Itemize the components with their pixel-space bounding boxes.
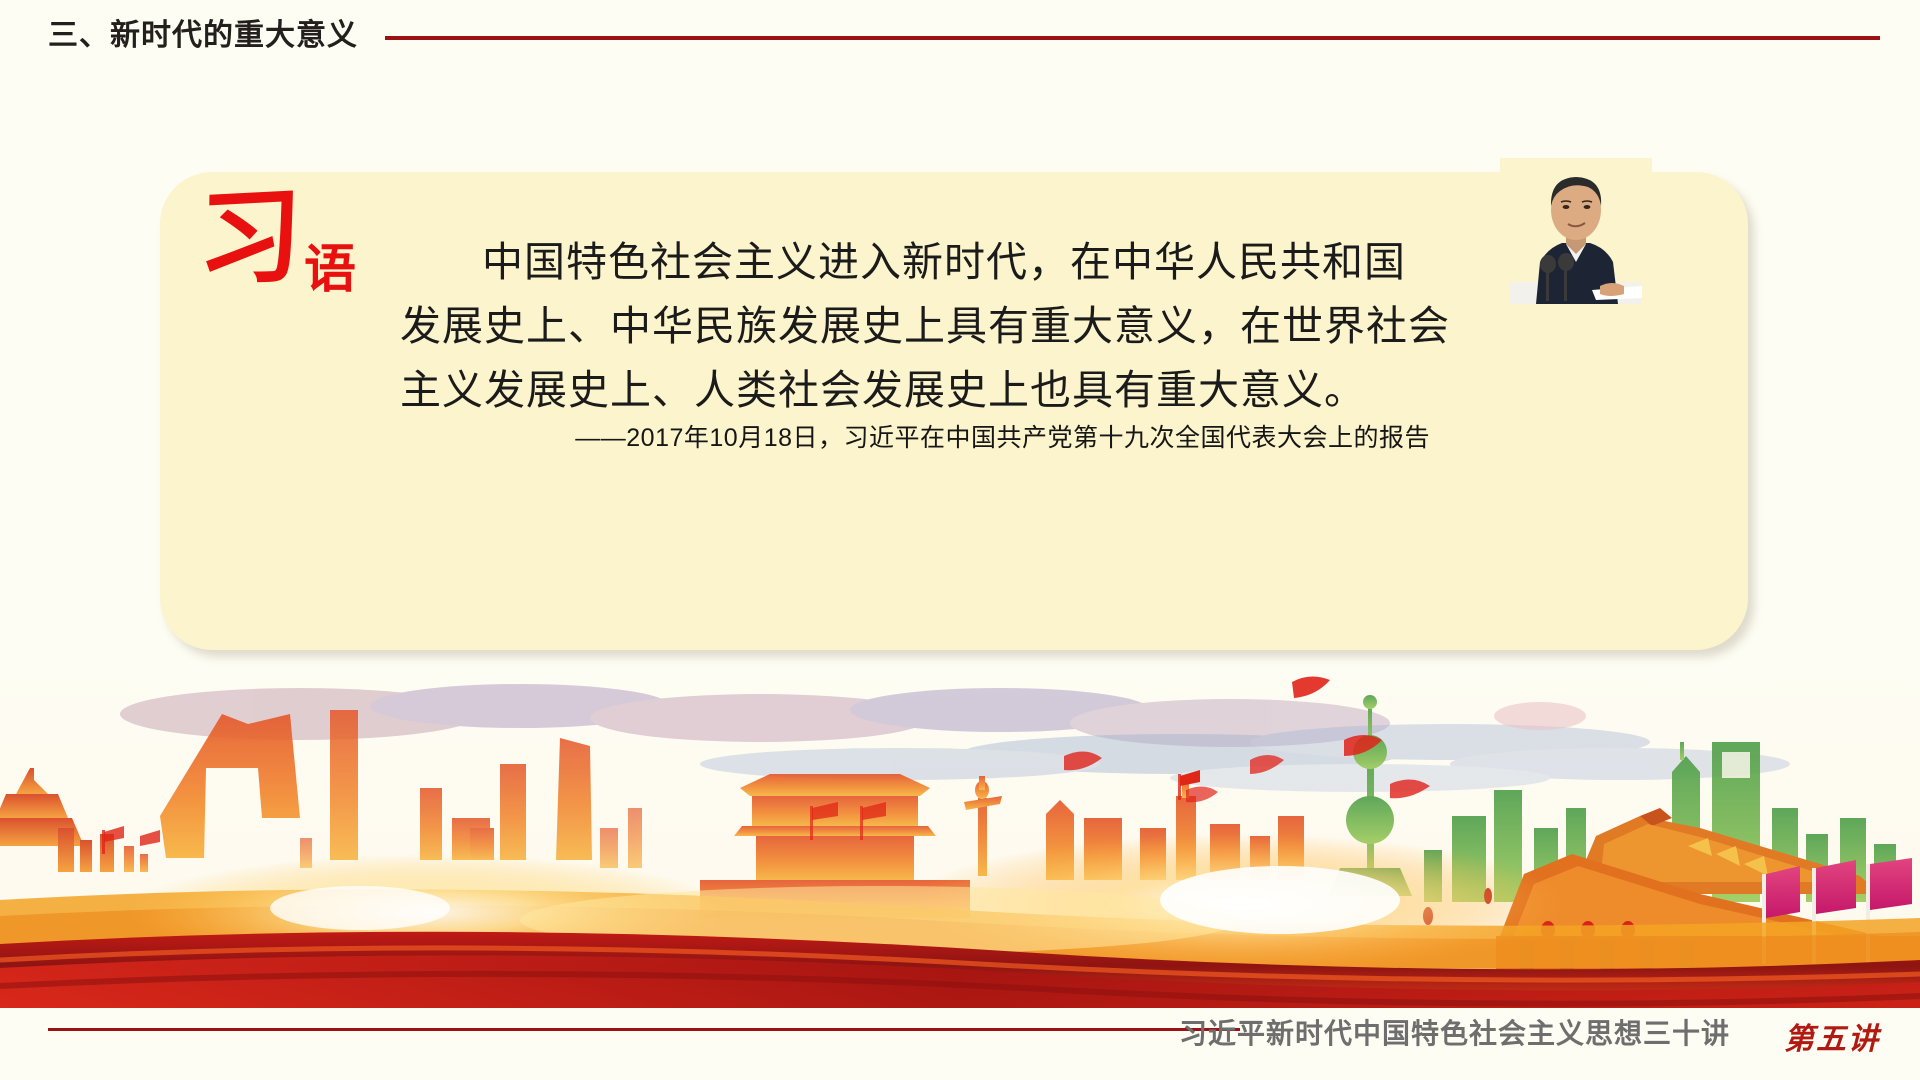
footer-divider-line xyxy=(48,1028,1240,1031)
city-skyline-illustration xyxy=(0,668,1920,1008)
slide-header: 三、新时代的重大意义 xyxy=(0,0,1920,60)
logo-char-xi: 习 xyxy=(197,183,303,292)
xi-yu-logo: 习 语 xyxy=(198,192,388,307)
quote-line: 主义发展史上、人类社会发展史上也具有重大意义。 xyxy=(400,358,1430,422)
quote-card: 习 语 中国特色社会主义进入新时代，在中华人民共和国 发展史上、中华民族发展史上… xyxy=(160,172,1748,650)
footer-lecture-number: 第五讲 xyxy=(1784,1014,1880,1058)
header-divider-line xyxy=(385,36,1880,40)
speaker-portrait-photo xyxy=(1500,158,1652,304)
footer-series-title: 习近平新时代中国特色社会主义思想三十讲 xyxy=(1179,1012,1730,1052)
page-title: 三、新时代的重大意义 xyxy=(48,10,358,54)
slide-footer: 习近平新时代中国特色社会主义思想三十讲 第五讲 xyxy=(0,1008,1920,1080)
quote-attribution: ——2017年10月18日，习近平在中国共产党第十九次全国代表大会上的报告 xyxy=(400,418,1430,454)
quote-line: 中国特色社会主义进入新时代，在中华人民共和国 xyxy=(400,230,1430,294)
quote-line: 发展史上、中华民族发展史上具有重大意义，在世界社会 xyxy=(400,294,1430,358)
quote-text-block: 中国特色社会主义进入新时代，在中华人民共和国 发展史上、中华民族发展史上具有重大… xyxy=(400,230,1430,422)
logo-char-yu: 语 xyxy=(304,244,356,296)
